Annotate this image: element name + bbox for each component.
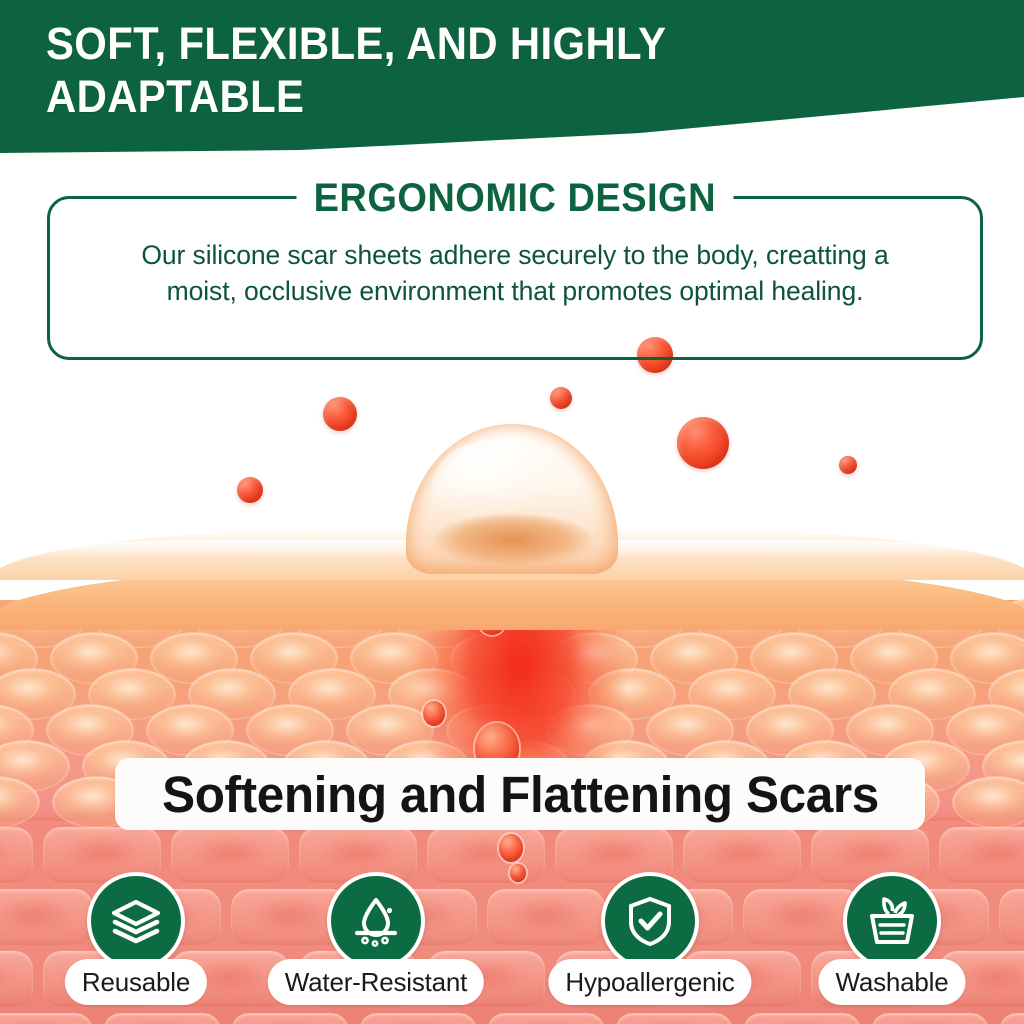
ergonomic-design-body: Our silicone scar sheets adhere securely… bbox=[110, 237, 920, 309]
infographic-page: SOFT, FLEXIBLE, AND HIGHLY ADAPTABLE ERG… bbox=[0, 0, 1024, 1024]
hypodermis-cell-row bbox=[0, 1010, 1024, 1024]
hypodermis-cell bbox=[103, 1013, 221, 1024]
feature-washable-label: Washable bbox=[835, 969, 948, 995]
feature-water-resistant[interactable]: Water-Resistant bbox=[248, 872, 504, 1012]
feature-hypoallergenic-pill: Hypoallergenic bbox=[548, 959, 751, 1005]
blood-cell bbox=[237, 477, 263, 503]
hypodermis-cell bbox=[743, 1013, 861, 1024]
feature-hypoallergenic[interactable]: Hypoallergenic bbox=[522, 872, 778, 1012]
feature-badge-row: Reusable Water-Resistant bbox=[0, 872, 1024, 1012]
feature-reusable-label: Reusable bbox=[82, 969, 190, 995]
hypodermis-cell bbox=[999, 1013, 1024, 1024]
skin-cross-section-illustration bbox=[0, 0, 1024, 1024]
hypodermis-cell bbox=[487, 1013, 605, 1024]
embedded-blood-cell bbox=[499, 834, 523, 862]
wash-basin-leaf-icon bbox=[843, 872, 941, 970]
blood-cell bbox=[550, 387, 572, 409]
hypodermis-cell bbox=[871, 1013, 989, 1024]
softening-banner-text: Softening and Flattening Scars bbox=[162, 769, 879, 820]
feature-washable[interactable]: Washable bbox=[764, 872, 1020, 1012]
page-title: SOFT, FLEXIBLE, AND HIGHLY ADAPTABLE bbox=[46, 17, 790, 123]
ergonomic-design-card: ERGONOMIC DESIGN Our silicone scar sheet… bbox=[47, 196, 983, 360]
blood-cell bbox=[323, 397, 357, 431]
feature-washable-pill: Washable bbox=[818, 959, 965, 1005]
hypodermis-cell bbox=[615, 1013, 733, 1024]
shield-check-icon bbox=[601, 872, 699, 970]
hypodermis-cell bbox=[231, 1013, 349, 1024]
feature-water-resistant-label: Water-Resistant bbox=[285, 969, 467, 995]
feature-water-resistant-pill: Water-Resistant bbox=[268, 959, 484, 1005]
softening-banner: Softening and Flattening Scars bbox=[115, 758, 925, 830]
scar-tissue bbox=[434, 514, 592, 570]
hypodermis-cell bbox=[0, 1013, 93, 1024]
blood-cell bbox=[839, 456, 857, 474]
feature-reusable[interactable]: Reusable bbox=[8, 872, 264, 1012]
dermis-cell bbox=[953, 777, 1024, 827]
hypodermis-cell bbox=[359, 1013, 477, 1024]
layers-icon bbox=[87, 872, 185, 970]
water-drop-repel-icon bbox=[327, 872, 425, 970]
feature-hypoallergenic-label: Hypoallergenic bbox=[565, 969, 734, 995]
feature-reusable-pill: Reusable bbox=[65, 959, 207, 1005]
dermis-cell bbox=[0, 777, 39, 827]
blood-cell bbox=[677, 417, 729, 469]
